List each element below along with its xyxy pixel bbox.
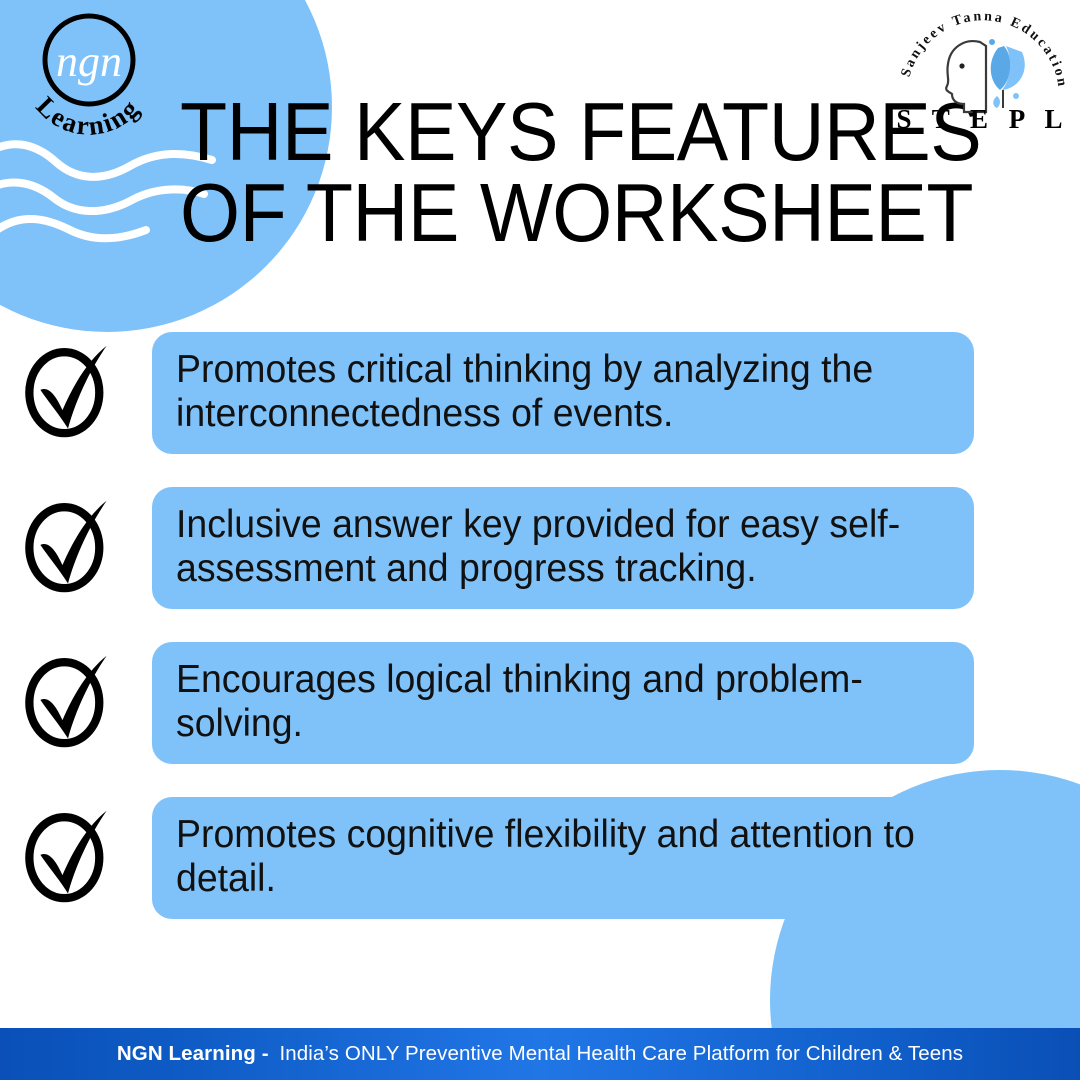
footer-text: NGN Learning - India’s ONLY Preventive M… <box>117 1042 963 1066</box>
circled-checkmark-icon <box>22 799 114 909</box>
ngn-learning-logo: ngn Learning <box>14 8 164 143</box>
page-title-line-2: OF THE WORKSHEET <box>180 173 887 254</box>
feature-row: Inclusive answer key provided for easy s… <box>0 487 1080 642</box>
circled-checkmark-icon <box>22 489 114 599</box>
feature-card: Encourages logical thinking and problem-… <box>152 642 974 764</box>
feature-card: Promotes critical thinking by analyzing … <box>152 332 974 454</box>
feature-text: Encourages logical thinking and problem-… <box>176 658 919 746</box>
page-title: THE KEYS FEATURES OF THE WORKSHEET <box>180 92 887 253</box>
feature-text: Inclusive answer key provided for easy s… <box>176 503 919 591</box>
circled-checkmark-icon <box>22 644 114 754</box>
ngn-wordmark: Learning <box>30 91 145 141</box>
stepl-acronym: S T E P L <box>896 104 1069 130</box>
feature-row: Promotes critical thinking by analyzing … <box>0 332 1080 487</box>
feature-row: Encourages logical thinking and problem-… <box>0 642 1080 797</box>
footer-tagline: India’s ONLY Preventive Mental Health Ca… <box>279 1042 963 1065</box>
footer-banner: NGN Learning - India’s ONLY Preventive M… <box>0 1028 1080 1080</box>
feature-text: Promotes cognitive flexibility and atten… <box>176 813 919 901</box>
head-profile-icon <box>946 41 986 112</box>
stepl-logo: Sanjeev Tanna Education S T E P L <box>894 4 1072 130</box>
feature-card: Inclusive answer key provided for easy s… <box>152 487 974 609</box>
feature-row: Promotes cognitive flexibility and atten… <box>0 797 1080 952</box>
feature-text: Promotes critical thinking by analyzing … <box>176 348 919 436</box>
ngn-monogram: ngn <box>56 37 122 86</box>
page-title-line-1: THE KEYS FEATURES <box>180 92 887 173</box>
poster-canvas: ngn Learning Sanjeev Tanna Education <box>0 0 1080 1080</box>
feature-card: Promotes cognitive flexibility and atten… <box>152 797 974 919</box>
feature-list: Promotes critical thinking by analyzing … <box>0 332 1080 952</box>
footer-brand: NGN Learning - <box>117 1042 269 1065</box>
circled-checkmark-icon <box>22 334 114 444</box>
